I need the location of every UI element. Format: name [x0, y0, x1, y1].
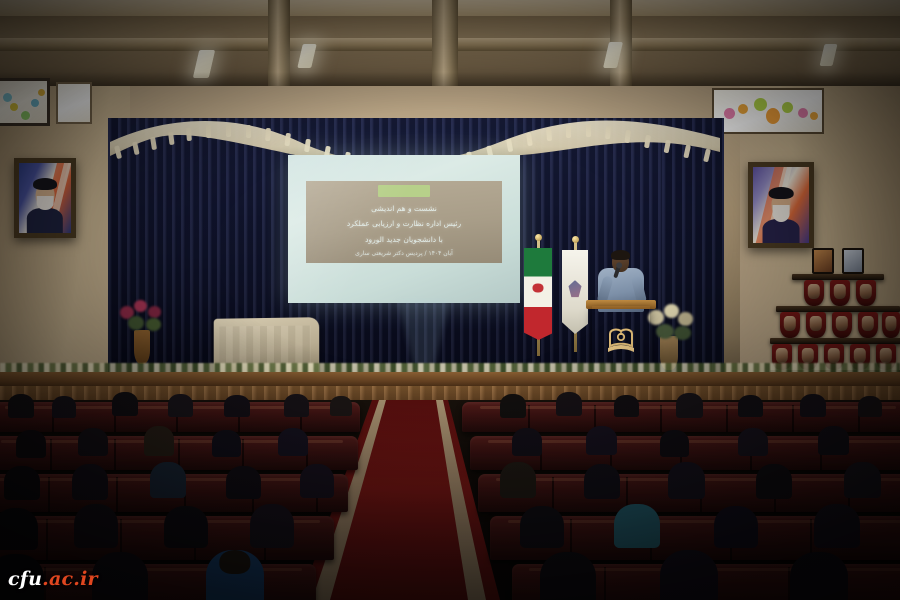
shield-item — [806, 312, 826, 338]
floral-decal-left — [0, 81, 47, 123]
iran-flag-emblem — [533, 284, 544, 293]
audience-member — [614, 395, 639, 417]
memorial-top-portrait-1 — [812, 248, 834, 274]
slide-accent-tag — [378, 185, 430, 197]
audience-member — [164, 506, 208, 548]
audience-member — [330, 396, 352, 416]
slide-footer: آبان ۱۴۰۴ / پردیس دکتر شریعتی ساری — [355, 250, 453, 258]
memorial-top-portrait-2 — [842, 248, 864, 274]
audience-member — [206, 550, 264, 600]
audience-member — [92, 552, 148, 600]
audience-member — [540, 552, 596, 600]
floral-decal-right — [714, 90, 822, 132]
bouquet-bloom — [678, 312, 693, 326]
audience-member — [756, 464, 792, 499]
audience-member — [676, 393, 703, 418]
flower-vase-left — [134, 330, 150, 364]
university-flag — [562, 250, 588, 334]
shield-item — [882, 312, 900, 338]
audience-member — [584, 464, 620, 499]
audience-member — [512, 428, 542, 456]
shield-item — [858, 312, 878, 338]
flagpole-finial-iran — [535, 234, 542, 241]
audience-member — [74, 504, 118, 548]
audience-member — [8, 394, 34, 418]
audience-member — [818, 426, 849, 455]
wall-window-right — [712, 88, 824, 134]
audience-member — [500, 462, 536, 498]
audience-member — [556, 392, 582, 416]
audience-member — [212, 430, 241, 457]
shield-item — [856, 280, 876, 306]
audience-member — [72, 464, 108, 500]
audience-member — [150, 462, 186, 498]
audience-member — [586, 426, 617, 455]
audience-member — [78, 428, 108, 456]
audience-member — [660, 430, 689, 457]
wall-art-left — [0, 78, 50, 126]
audience-member — [500, 394, 526, 418]
audience-member — [284, 394, 309, 417]
bouquet-bloom — [134, 300, 147, 312]
audience-member — [300, 464, 334, 498]
audience-member — [738, 428, 768, 456]
audience-member — [844, 462, 881, 498]
watermark-secondary: .ac.ir — [42, 568, 98, 590]
speaker-hair — [611, 250, 630, 260]
open-book-emblem — [606, 326, 636, 360]
bouquet-foliage — [128, 316, 144, 330]
bouquet-foliage — [656, 324, 674, 339]
bouquet-bloom — [148, 306, 161, 318]
audience-member — [800, 394, 826, 417]
wall-window-left — [56, 82, 92, 124]
projected-slide: نشست و هم اندیشی رئیس اداره نظارت و ارزی… — [306, 181, 502, 263]
audience-member — [790, 552, 848, 600]
audience-member — [858, 396, 882, 417]
audience-member — [738, 395, 763, 417]
watermark-primary: cfu — [8, 568, 42, 590]
portrait-khamenei — [14, 158, 76, 238]
audience-area — [0, 400, 900, 600]
bouquet-bloom — [664, 304, 679, 318]
auditorium-photo: نشست و هم اندیشی رئیس اداره نظارت و ارزی… — [0, 0, 900, 600]
audience-member — [52, 396, 76, 418]
audience-member — [226, 466, 261, 499]
audience-member — [112, 392, 138, 416]
bouquet-foliage — [674, 326, 691, 340]
audience-member — [168, 394, 193, 417]
projection-screen: نشست و هم اندیشی رئیس اداره نظارت و ارزی… — [288, 155, 520, 303]
audience-member — [4, 466, 40, 500]
site-watermark: cfu.ac.ir — [8, 568, 98, 590]
audience-member — [814, 504, 860, 548]
slide-line-2: رئیس اداره نظارت و ارزیابی عملکرد — [347, 219, 461, 228]
bouquet-bloom — [648, 310, 664, 325]
flagpole-finial-university — [572, 236, 579, 243]
shield-item — [804, 280, 824, 306]
audience-member — [660, 550, 718, 600]
audience-member — [520, 506, 564, 548]
audience-member — [224, 395, 250, 417]
shield-item — [830, 280, 850, 306]
audience-member — [714, 506, 758, 548]
shield-item — [832, 312, 852, 338]
shield-item — [780, 312, 800, 338]
audience-member — [0, 508, 38, 550]
audience-member — [144, 426, 174, 456]
audience-member — [16, 430, 46, 458]
audience-member — [668, 462, 705, 499]
audience-member — [250, 504, 294, 548]
slide-line-3: با دانشجویان جدید الورود — [365, 235, 443, 244]
slide-line-1: نشست و هم اندیشی — [371, 204, 437, 213]
portrait-khomeini — [748, 162, 814, 248]
bouquet-foliage — [146, 318, 161, 331]
iran-flag — [524, 248, 552, 340]
university-flag-logo — [569, 280, 582, 297]
audience-member — [278, 428, 308, 456]
ceiling — [0, 0, 900, 92]
audience-member — [614, 504, 660, 548]
